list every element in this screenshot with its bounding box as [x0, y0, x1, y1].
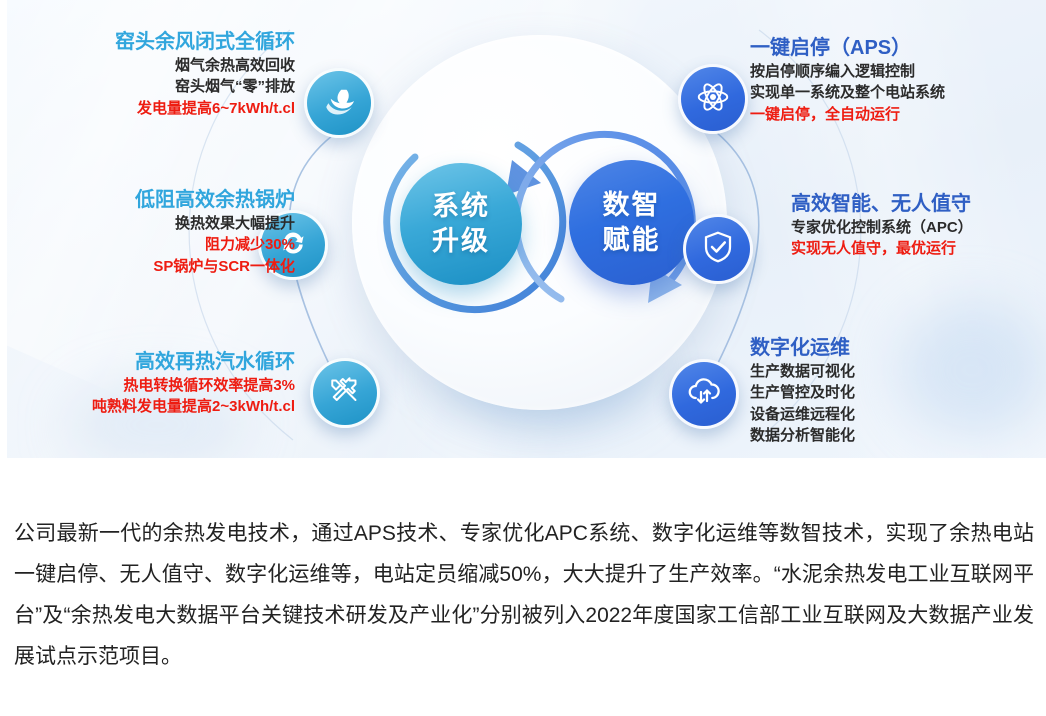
tools-wrench-hammer-icon: [327, 373, 363, 414]
text-block-digital-operations: 数字化运维 生产数据可视化 生产管控及时化 设备运维远程化 数据分析智能化: [750, 336, 1040, 446]
block-line: 换热效果大幅提升: [25, 213, 295, 234]
block-heading: 窑头余风闭式全循环: [25, 30, 295, 55]
block-line: 实现单一系统及整个电站系统: [750, 82, 1040, 103]
cloud-sync-icon: [686, 374, 722, 415]
core-right-line-2: 赋能: [603, 223, 661, 258]
tools-wrench-hammer-icon-bubble[interactable]: [310, 358, 380, 428]
text-block-reheat-steam-cycle: 高效再热汽水循环 热电转换循环效率提高3% 吨熟料发电量提高2~3kWh/t.c…: [15, 350, 295, 418]
block-line: 烟气余热高效回收: [25, 55, 295, 76]
block-heading: 低阻高效余热锅炉: [25, 188, 295, 213]
block-line-highlight: 吨熟料发电量提高2~3kWh/t.cl: [15, 396, 295, 417]
text-block-low-resistance-boiler: 低阻高效余热锅炉 换热效果大幅提升 阻力减少30% SP锅炉与SCR一体化: [25, 188, 295, 277]
wind-swirl-icon-bubble[interactable]: [304, 68, 374, 138]
infographic-panel: 系统 升级 数智 赋能 窑头余风闭式全循环: [7, 0, 1046, 458]
core-right-line-1: 数智: [603, 188, 661, 223]
block-line: 窑头烟气“零”排放: [25, 76, 295, 97]
block-line: 按启停顺序编入逻辑控制: [750, 61, 1040, 82]
text-block-kiln-head-waste-wind: 窑头余风闭式全循环 烟气余热高效回收 窑头烟气“零”排放 发电量提高6~7kWh…: [25, 30, 295, 119]
block-line-highlight: 发电量提高6~7kWh/t.cl: [25, 98, 295, 119]
block-line: 专家优化控制系统（APC）: [791, 217, 1046, 238]
block-line-highlight: SP锅炉与SCR一体化: [25, 256, 295, 277]
shield-check-icon: [700, 229, 736, 270]
block-line-highlight: 实现无人值守，最优运行: [791, 238, 1046, 259]
block-line: 生产管控及时化: [750, 382, 1040, 403]
block-heading: 高效再热汽水循环: [15, 350, 295, 375]
core-left-line-2: 升级: [432, 224, 490, 259]
body-paragraph: 公司最新一代的余热发电技术，通过APS技术、专家优化APC系统、数字化运维等数智…: [14, 513, 1034, 677]
text-block-one-key-start-stop: 一键启停（APS） 按启停顺序编入逻辑控制 实现单一系统及整个电站系统 一键启停…: [750, 36, 1040, 125]
block-line: 生产数据可视化: [750, 361, 1040, 382]
block-heading: 数字化运维: [750, 336, 1040, 361]
atom-icon: [695, 79, 731, 120]
cloud-sync-icon-bubble[interactable]: [669, 359, 739, 429]
shield-check-icon-bubble[interactable]: [683, 214, 753, 284]
core-circle-system-upgrade: 系统 升级: [400, 163, 522, 285]
wind-swirl-icon: [321, 83, 357, 124]
block-line: 设备运维远程化: [750, 404, 1040, 425]
block-line: 数据分析智能化: [750, 425, 1040, 446]
block-line-highlight: 热电转换循环效率提高3%: [15, 375, 295, 396]
core-circle-digital-empowerment: 数智 赋能: [569, 160, 694, 285]
block-line-highlight: 阻力减少30%: [25, 234, 295, 255]
block-line-highlight: 一键启停，全自动运行: [750, 104, 1040, 125]
core-left-line-1: 系统: [432, 189, 490, 224]
atom-icon-bubble[interactable]: [678, 64, 748, 134]
text-block-intelligent-unattended: 高效智能、无人值守 专家优化控制系统（APC） 实现无人值守，最优运行: [791, 192, 1046, 260]
block-heading: 高效智能、无人值守: [791, 192, 1046, 217]
block-heading: 一键启停（APS）: [750, 36, 1040, 61]
